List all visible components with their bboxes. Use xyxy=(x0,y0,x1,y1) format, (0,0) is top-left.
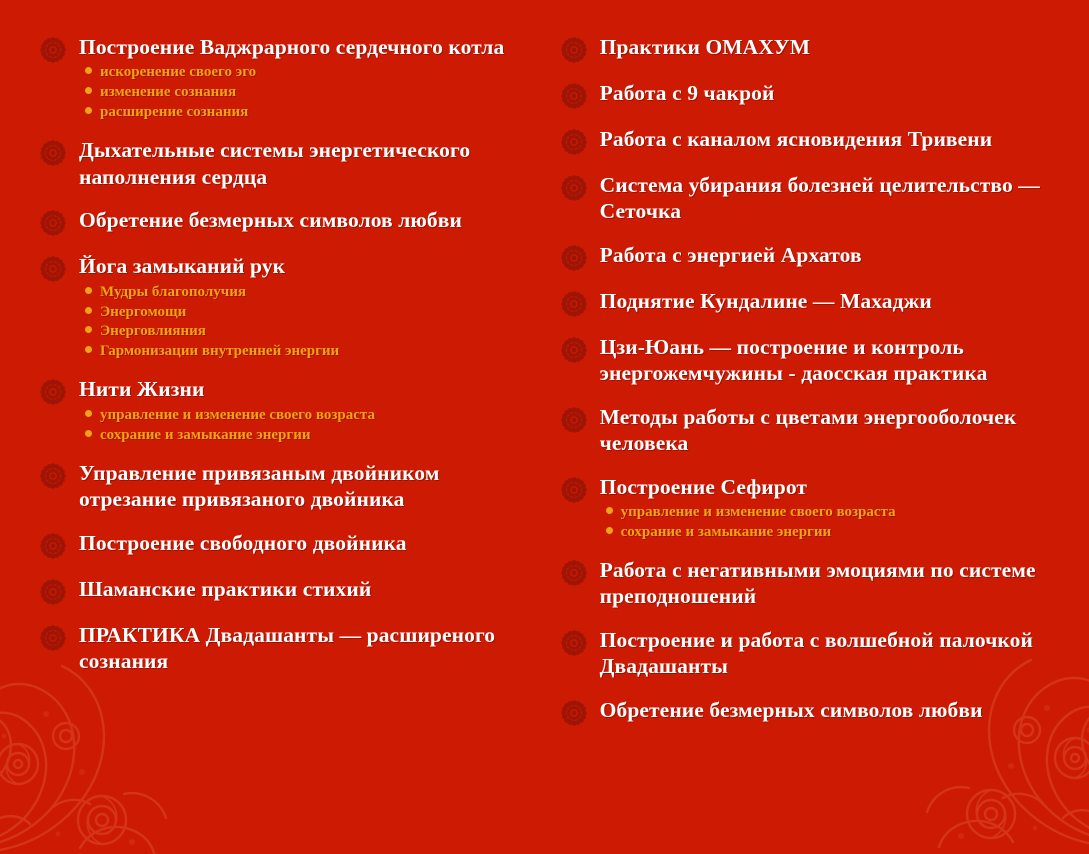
list-item-title: Построение Ваджрарного сердечного котла xyxy=(79,34,537,60)
dot-bullet-icon xyxy=(85,410,92,417)
sub-list: искоренение своего эгоизменение сознания… xyxy=(79,63,537,123)
mandala-rosette-icon xyxy=(40,140,66,166)
sub-list-item: Гармонизации внутренней энергии xyxy=(85,342,537,362)
list-item: Обретение безмерных символов любви xyxy=(40,207,537,236)
sub-list-item: сохрание и замыкание энергии xyxy=(85,426,537,446)
list-item-body: Шаманские практики стихий xyxy=(79,576,537,602)
mandala-rosette-icon xyxy=(40,37,66,63)
dot-bullet-icon xyxy=(85,67,92,74)
mandala-rosette-icon xyxy=(561,700,587,726)
list-item-body: Нити Жизниуправление и изменение своего … xyxy=(79,376,537,445)
list-item-title: Обретение безмерных символов любви xyxy=(600,697,1073,723)
list-item-title: Поднятие Кундалине — Махаджи xyxy=(600,288,1073,314)
sub-list-item-label: управление и изменение своего возраста xyxy=(100,406,375,426)
list-item-body: Работа с 9 чакрой xyxy=(600,80,1073,106)
sub-list-item-label: Мудры благополучия xyxy=(100,283,246,303)
dot-bullet-icon xyxy=(85,307,92,314)
mandala-rosette-icon xyxy=(561,560,587,586)
sub-list-item: сохрание и замыкание энергии xyxy=(606,523,1073,543)
list-item-body: Построение Ваджрарного сердечного котлаи… xyxy=(79,34,537,123)
list-item-title: Методы работы с цветами энергооболочек ч… xyxy=(600,404,1073,457)
mandala-rosette-icon xyxy=(561,407,587,433)
mandala-rosette-icon xyxy=(40,379,66,405)
list-item-title: Работа с негативными эмоциями по системе… xyxy=(600,557,1073,610)
list-item: Нити Жизниуправление и изменение своего … xyxy=(40,376,537,445)
mandala-rosette-icon xyxy=(40,579,66,605)
list-item-title: Йога замыканий рук xyxy=(79,253,537,279)
list-item: Шаманские практики стихий xyxy=(40,576,537,605)
left-column: Построение Ваджрарного сердечного котлаи… xyxy=(40,34,543,691)
mandala-rosette-icon xyxy=(40,463,66,489)
list-item: Работа с каналом ясновидения Тривени xyxy=(561,126,1073,155)
list-item: ПРАКТИКА Двадашанты — расширеного сознан… xyxy=(40,622,537,675)
list-item-title: Цзи-Юань — построение и контроль энергож… xyxy=(600,334,1073,387)
sub-list-item-label: сохрание и замыкание энергии xyxy=(621,523,832,543)
list-item: Практики ОМАХУМ xyxy=(561,34,1073,63)
list-item: Построение свободного двойника xyxy=(40,530,537,559)
dot-bullet-icon xyxy=(85,107,92,114)
sub-list-item: управление и изменение своего возраста xyxy=(606,503,1073,523)
list-item-title: ПРАКТИКА Двадашанты — расширеного сознан… xyxy=(79,622,537,675)
list-item-body: Йога замыканий рукМудры благополучияЭнер… xyxy=(79,253,537,362)
list-item-body: ПРАКТИКА Двадашанты — расширеного сознан… xyxy=(79,622,537,675)
list-item: Йога замыканий рукМудры благополучияЭнер… xyxy=(40,253,537,362)
sub-list: Мудры благополучияЭнергомощиЭнерговлияни… xyxy=(79,283,537,363)
dot-bullet-icon xyxy=(606,507,613,514)
list-item-title: Управление привязаным двойником отрезани… xyxy=(79,460,537,513)
mandala-rosette-icon xyxy=(40,533,66,559)
dot-bullet-icon xyxy=(606,527,613,534)
list-item-body: Обретение безмерных символов любви xyxy=(600,697,1073,723)
list-item-title: Построение Сефирот xyxy=(600,474,1073,500)
list-item-title: Система убирания болезней целительство —… xyxy=(600,172,1073,225)
sub-list-item-label: управление и изменение своего возраста xyxy=(621,503,896,523)
mandala-rosette-icon xyxy=(40,210,66,236)
list-item-body: Работа с каналом ясновидения Тривени xyxy=(600,126,1073,152)
list-item-body: Построение Сефиротуправление и изменение… xyxy=(600,474,1073,543)
list-item-body: Система убирания болезней целительство —… xyxy=(600,172,1073,225)
list-item: Работа с энергией Архатов xyxy=(561,242,1073,271)
list-item: Управление привязаным двойником отрезани… xyxy=(40,460,537,513)
list-item: Система убирания болезней целительство —… xyxy=(561,172,1073,225)
mandala-rosette-icon xyxy=(40,625,66,651)
list-item: Работа с 9 чакрой xyxy=(561,80,1073,109)
sub-list-item-label: сохрание и замыкание энергии xyxy=(100,426,311,446)
list-item-body: Методы работы с цветами энергооболочек ч… xyxy=(600,404,1073,457)
dot-bullet-icon xyxy=(85,346,92,353)
list-item-title: Работа с 9 чакрой xyxy=(600,80,1073,106)
list-item-title: Построение свободного двойника xyxy=(79,530,537,556)
dot-bullet-icon xyxy=(85,430,92,437)
sub-list-item-label: расширение сознания xyxy=(100,103,248,123)
mandala-rosette-icon xyxy=(561,83,587,109)
list-item-title: Дыхательные системы энергетического напо… xyxy=(79,137,537,190)
list-item-body: Работа с негативными эмоциями по системе… xyxy=(600,557,1073,610)
list-item: Построение Сефиротуправление и изменение… xyxy=(561,474,1073,543)
list-item-body: Обретение безмерных символов любви xyxy=(79,207,537,233)
list-item: Обретение безмерных символов любви xyxy=(561,697,1073,726)
sub-list-item-label: изменение сознания xyxy=(100,83,236,103)
sub-list-item-label: искоренение своего эго xyxy=(100,63,256,83)
list-item-body: Управление привязаным двойником отрезани… xyxy=(79,460,537,513)
sub-list-item: Мудры благополучия xyxy=(85,283,537,303)
list-item-body: Практики ОМАХУМ xyxy=(600,34,1073,60)
mandala-rosette-icon xyxy=(561,129,587,155)
sub-list-item: управление и изменение своего возраста xyxy=(85,406,537,426)
dot-bullet-icon xyxy=(85,87,92,94)
list-item-title: Работа с энергией Архатов xyxy=(600,242,1073,268)
list-item: Дыхательные системы энергетического напо… xyxy=(40,137,537,190)
list-item-body: Поднятие Кундалине — Махаджи xyxy=(600,288,1073,314)
list-item: Построение Ваджрарного сердечного котлаи… xyxy=(40,34,537,123)
mandala-rosette-icon xyxy=(561,245,587,271)
list-item: Работа с негативными эмоциями по системе… xyxy=(561,557,1073,610)
slide-body: Построение Ваджрарного сердечного котлаи… xyxy=(0,0,1089,802)
list-item-body: Дыхательные системы энергетического напо… xyxy=(79,137,537,190)
sub-list-item: изменение сознания xyxy=(85,83,537,103)
mandala-rosette-icon xyxy=(40,256,66,282)
list-item-title: Обретение безмерных символов любви xyxy=(79,207,537,233)
dot-bullet-icon xyxy=(85,326,92,333)
list-item-body: Цзи-Юань — построение и контроль энергож… xyxy=(600,334,1073,387)
mandala-rosette-icon xyxy=(561,37,587,63)
list-item-body: Работа с энергией Архатов xyxy=(600,242,1073,268)
sub-list-item: искоренение своего эго xyxy=(85,63,537,83)
sub-list-item: расширение сознания xyxy=(85,103,537,123)
right-column: Практики ОМАХУМРабота с 9 чакройРабота с… xyxy=(543,34,1073,743)
list-item-title: Практики ОМАХУМ xyxy=(600,34,1073,60)
list-item-title: Построение и работа с волшебной палочкой… xyxy=(600,627,1073,680)
sub-list-item-label: Энергомощи xyxy=(100,303,186,323)
list-item-body: Построение и работа с волшебной палочкой… xyxy=(600,627,1073,680)
sub-list: управление и изменение своего возрастасо… xyxy=(79,406,537,446)
list-item: Поднятие Кундалине — Махаджи xyxy=(561,288,1073,317)
mandala-rosette-icon xyxy=(561,291,587,317)
dot-bullet-icon xyxy=(85,287,92,294)
mandala-rosette-icon xyxy=(561,175,587,201)
list-item: Методы работы с цветами энергооболочек ч… xyxy=(561,404,1073,457)
sub-list: управление и изменение своего возрастасо… xyxy=(600,503,1073,543)
mandala-rosette-icon xyxy=(561,630,587,656)
list-item: Цзи-Юань — построение и контроль энергож… xyxy=(561,334,1073,387)
list-item-title: Шаманские практики стихий xyxy=(79,576,537,602)
sub-list-item-label: Энерговлияния xyxy=(100,322,206,342)
mandala-rosette-icon xyxy=(561,337,587,363)
sub-list-item-label: Гармонизации внутренней энергии xyxy=(100,342,339,362)
list-item-body: Построение свободного двойника xyxy=(79,530,537,556)
sub-list-item: Энергомощи xyxy=(85,303,537,323)
mandala-rosette-icon xyxy=(561,477,587,503)
list-item-title: Работа с каналом ясновидения Тривени xyxy=(600,126,1073,152)
list-item-title: Нити Жизни xyxy=(79,376,537,402)
sub-list-item: Энерговлияния xyxy=(85,322,537,342)
list-item: Построение и работа с волшебной палочкой… xyxy=(561,627,1073,680)
